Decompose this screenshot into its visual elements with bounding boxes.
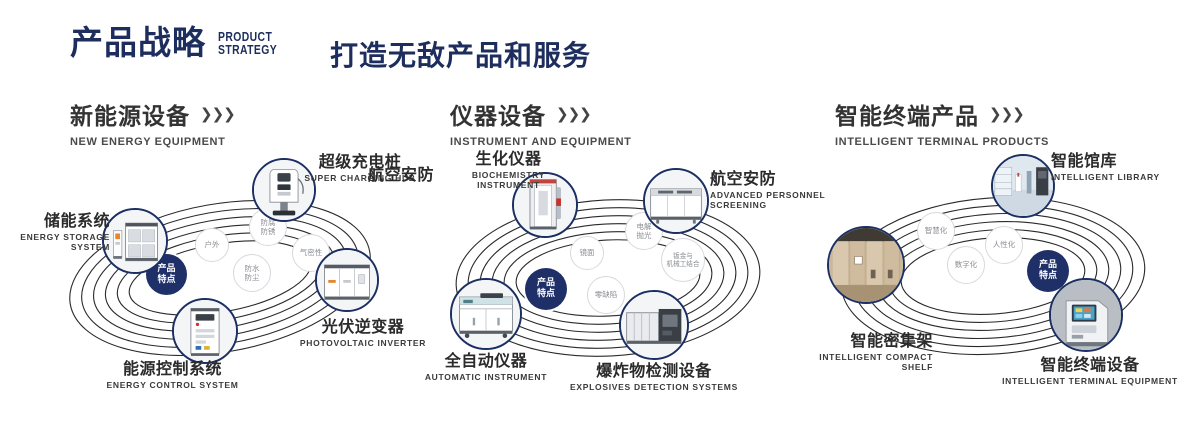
product-label-cn: 爆炸物检测设备: [563, 362, 745, 380]
product-label-cn: 能源控制系统: [80, 360, 265, 378]
chevron-right-icon: ❯❯❯: [556, 105, 591, 123]
feature-bubble: 防水 防尘: [233, 254, 271, 292]
section-title-en: INTELLIGENT TERMINAL PRODUCTS: [835, 136, 1049, 148]
section-title-text: 智能终端产品: [835, 97, 979, 131]
product-label-cn: 生化仪器: [426, 150, 591, 168]
product-label-en-line1: ENERGY CONTROL SYSTEM: [80, 380, 265, 390]
page-title-en-line2: STRATEGY: [218, 43, 277, 57]
product-label-energy-control-system: 能源控制系统 ENERGY CONTROL SYSTEM: [80, 360, 265, 390]
page-header: 产品战略 PRODUCT STRATEGY: [70, 26, 292, 59]
product-circle-photovoltaic-inverter[interactable]: [315, 248, 379, 312]
feature-bubble: 零缺陷: [587, 276, 625, 314]
section-title-cn: 新能源设备 ❯❯❯: [70, 97, 235, 131]
core-label-line2: 特点: [537, 289, 555, 300]
feature-label: 镜面: [580, 248, 595, 257]
core-label-line1: 产品: [1039, 260, 1057, 271]
energy-storage-system-image: [104, 210, 166, 272]
section-title-cn: 仪器设备 ❯❯❯: [450, 97, 631, 131]
section-title-text: 仪器设备: [450, 97, 546, 131]
product-label-en-line2: SHELF: [753, 362, 933, 372]
product-label-aviation-security-left: 航空安防: [314, 166, 434, 184]
product-label-cn: 智能密集架: [753, 332, 933, 350]
product-circle-intelligent-terminal-equipment[interactable]: [1049, 278, 1123, 352]
page-title-en: PRODUCT STRATEGY: [218, 30, 277, 57]
product-label-en-line1: INTELLIGENT COMPACT: [753, 352, 933, 362]
product-label-en-line1: EXPLOSIVES DETECTION SYSTEMS: [563, 382, 745, 392]
product-circle-energy-storage-system[interactable]: [102, 208, 168, 274]
intelligent-compact-shelf-image: [829, 228, 903, 302]
section-title-text: 新能源设备: [70, 97, 190, 131]
section-header-new-energy: 新能源设备 ❯❯❯ NEW ENERGY EQUIPMENT: [70, 97, 235, 148]
intelligent-terminal-equipment-image: [1051, 280, 1121, 350]
feature-bubble: 数字化: [947, 246, 985, 284]
diagram-intelligent-terminal: 智慧化 数字化 人性化 产品 特点: [795, 150, 1195, 410]
intelligent-library-image: [993, 156, 1053, 216]
product-label-intelligent-compact-shelf: 智能密集架 INTELLIGENT COMPACT SHELF: [753, 332, 933, 372]
page-title-cn: 产品战略: [70, 26, 206, 59]
feature-bubble: 智慧化: [917, 212, 955, 250]
core-bubble-product-features: 产品 特点: [525, 268, 567, 310]
feature-bubble: 人性化: [985, 226, 1023, 264]
feature-bubble: 钣金与 机械工结合: [661, 238, 705, 282]
product-circle-energy-control-system[interactable]: [172, 298, 238, 364]
product-label-intelligent-library: 智能馆库 INTELLIGENT LIBRARY: [1051, 152, 1200, 182]
feature-label: 户外: [205, 240, 220, 249]
chevron-right-icon: ❯❯❯: [200, 105, 235, 123]
product-strategy-infographic: 产品战略 PRODUCT STRATEGY 打造无敌产品和服务 新能源设备 ❯❯…: [0, 0, 1200, 422]
product-label-en-line2: SYSTEM: [4, 242, 110, 252]
product-circle-explosives-detection-systems[interactable]: [619, 290, 689, 360]
product-label-cn: 全自动仪器: [416, 352, 556, 370]
product-label-en-line2: INSTRUMENT: [426, 180, 591, 190]
section-title-en: INSTRUMENT AND EQUIPMENT: [450, 136, 631, 148]
diagram-instrument: 镜面 电解 抛光 零缺陷 钣金与 机械工结合 产品 特点: [408, 150, 808, 410]
product-label-cn: 智能馆库: [1051, 152, 1200, 170]
advanced-personnel-screening-image: [645, 170, 707, 232]
product-label-cn: 智能终端设备: [995, 356, 1185, 374]
feature-label: 零缺陷: [595, 290, 618, 299]
product-circle-intelligent-library[interactable]: [991, 154, 1055, 218]
feature-bubble: 户外: [195, 228, 229, 262]
product-label-explosives-detection-systems: 爆炸物检测设备 EXPLOSIVES DETECTION SYSTEMS: [563, 362, 745, 392]
explosives-detection-systems-image: [621, 292, 687, 358]
feature-label: 钣金与 机械工结合: [667, 252, 700, 268]
product-label-biochemistry-instrument: 生化仪器 BIOCHEMISTRY INSTRUMENT: [426, 150, 591, 190]
core-label-line1: 产品: [537, 278, 555, 289]
product-label-en-line1: BIOCHEMISTRY: [426, 170, 591, 180]
product-circle-advanced-personnel-screening[interactable]: [643, 168, 709, 234]
feature-bubble: 镜面: [570, 236, 604, 270]
product-circle-automatic-instrument[interactable]: [450, 278, 522, 350]
section-header-instrument: 仪器设备 ❯❯❯ INSTRUMENT AND EQUIPMENT: [450, 97, 631, 148]
chevron-right-icon: ❯❯❯: [989, 105, 1024, 123]
section-title-cn: 智能终端产品 ❯❯❯: [835, 97, 1049, 131]
feature-label: 人性化: [993, 240, 1016, 249]
product-label-cn: 航空安防: [314, 166, 434, 184]
product-circle-intelligent-compact-shelf[interactable]: [827, 226, 905, 304]
automatic-instrument-image: [452, 280, 520, 348]
product-label-en-line1: INTELLIGENT LIBRARY: [1051, 172, 1200, 182]
photovoltaic-inverter-image: [317, 250, 377, 310]
product-label-intelligent-terminal-equipment: 智能终端设备 INTELLIGENT TERMINAL EQUIPMENT: [995, 356, 1185, 386]
section-header-intelligent-terminal: 智能终端产品 ❯❯❯ INTELLIGENT TERMINAL PRODUCTS: [835, 97, 1049, 148]
product-label-en-line1: INTELLIGENT TERMINAL EQUIPMENT: [995, 376, 1185, 386]
page-subtitle: 打造无敌产品和服务: [330, 34, 591, 74]
section-title-en: NEW ENERGY EQUIPMENT: [70, 136, 235, 148]
energy-control-system-image: [174, 300, 236, 362]
product-label-energy-storage-system: 储能系统 ENERGY STORAGE SYSTEM: [4, 212, 110, 252]
feature-label: 防水 防尘: [245, 264, 260, 283]
product-label-cn: 储能系统: [4, 212, 110, 230]
product-label-en-line1: ENERGY STORAGE: [4, 232, 110, 242]
product-label-en-line1: AUTOMATIC INSTRUMENT: [416, 372, 556, 382]
product-label-automatic-instrument: 全自动仪器 AUTOMATIC INSTRUMENT: [416, 352, 556, 382]
feature-label: 数字化: [955, 260, 978, 269]
core-label-line2: 特点: [157, 275, 175, 286]
feature-label: 智慧化: [925, 226, 948, 235]
diagram-new-energy: 户外 防腐 防锈 防水 防尘 气密性 产品 特点: [20, 150, 420, 410]
page-title-en-line1: PRODUCT: [218, 30, 277, 44]
